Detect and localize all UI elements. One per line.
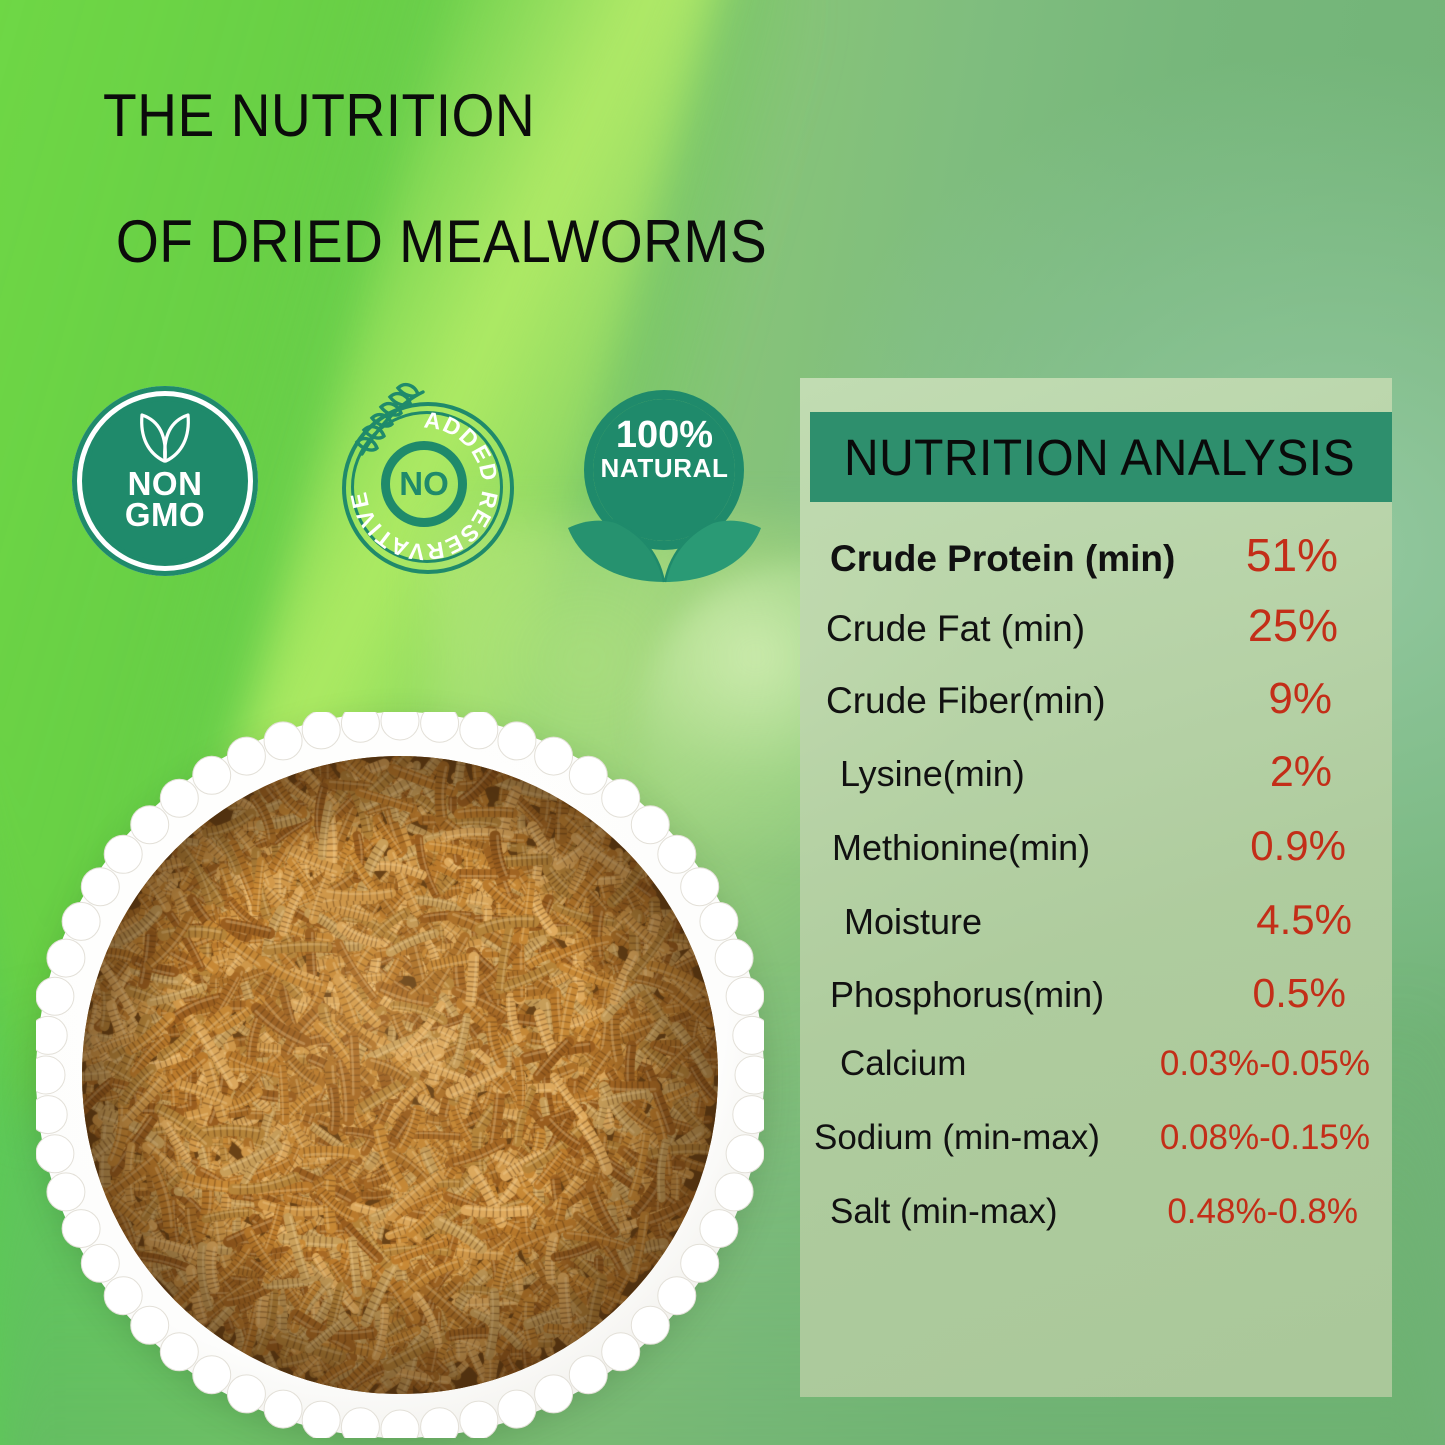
badge-no-added-preservatives: NO ADDED PRESERVATIVES: [324, 386, 524, 582]
nutrient-value: 2%: [1270, 748, 1380, 797]
nutrient-label: Moisture: [814, 901, 982, 943]
trust-badge-row: NON GMO: [72, 386, 772, 586]
badge-natural-percent: 100%: [562, 416, 767, 454]
badge-non-gmo: NON GMO: [72, 386, 258, 576]
table-row: Crude Protein (min) 51%: [814, 528, 1380, 600]
badge-preservatives-curved-text: ADDED PRESERVATIVES: [324, 386, 524, 582]
nutrient-label: Salt (min-max): [814, 1192, 1058, 1232]
table-row: Crude Fat (min) 25%: [814, 600, 1380, 674]
table-row: Crude Fiber(min) 9%: [814, 674, 1380, 748]
table-row: Moisture 4.5%: [814, 896, 1380, 970]
nutrient-value: 0.03%-0.05%: [1160, 1044, 1380, 1084]
nutrient-label: Crude Fat (min): [814, 608, 1085, 650]
nutrient-value: 0.9%: [1250, 822, 1380, 870]
table-row: Sodium (min-max) 0.08%-0.15%: [814, 1118, 1380, 1192]
nutrient-label: Crude Fiber(min): [814, 680, 1106, 722]
nutrition-table: Crude Protein (min) 51% Crude Fat (min) …: [814, 528, 1380, 1266]
page-title-line-1: THE NUTRITION: [103, 86, 931, 146]
table-row: Phosphorus(min) 0.5%: [814, 970, 1380, 1044]
nutrient-label: Calcium: [814, 1044, 966, 1084]
nutrition-panel: NUTRITION ANALYSIS Crude Protein (min) 5…: [800, 378, 1392, 1397]
two-leaves-icon: [126, 409, 204, 468]
page-title: THE NUTRITION OF DRIED MEALWORMS: [103, 86, 931, 272]
nutrient-label: Sodium (min-max): [814, 1118, 1100, 1158]
dried-mealworms-fill: [82, 756, 718, 1394]
nutrient-value: 4.5%: [1256, 896, 1380, 944]
two-leaves-icon: [562, 478, 767, 589]
product-photo-bowl-of-mealworms: [36, 712, 764, 1438]
nutrient-label: Crude Protein (min): [814, 538, 1175, 580]
page-title-line-2: OF DRIED MEALWORMS: [116, 212, 931, 272]
nutrition-panel-title: NUTRITION ANALYSIS: [844, 428, 1355, 487]
table-row: Methionine(min) 0.9%: [814, 822, 1380, 896]
badge-non-gmo-line-2: GMO: [72, 499, 258, 530]
nutrient-label: Lysine(min): [814, 753, 1025, 795]
nutrient-value: 9%: [1268, 674, 1380, 724]
nutrient-value: 51%: [1246, 528, 1380, 582]
nutrient-label: Phosphorus(min): [814, 974, 1104, 1016]
nutrient-value: 25%: [1248, 600, 1380, 652]
badge-100-natural: 100% NATURAL: [562, 386, 767, 584]
nutrition-panel-header: NUTRITION ANALYSIS: [810, 412, 1392, 502]
nutrient-value: 0.48%-0.8%: [1167, 1192, 1380, 1232]
table-row: Lysine(min) 2%: [814, 748, 1380, 822]
badge-non-gmo-line-1: NON: [72, 468, 258, 499]
nutrient-value: 0.5%: [1253, 970, 1380, 1017]
badge-non-gmo-label: NON GMO: [72, 468, 258, 530]
nutrient-label: Methionine(min): [814, 827, 1090, 869]
table-row: Calcium 0.03%-0.05%: [814, 1044, 1380, 1118]
badge-preservatives-arc-top-text: ADDED: [423, 407, 504, 485]
nutrient-value: 0.08%-0.15%: [1160, 1118, 1380, 1158]
infographic-page: THE NUTRITION OF DRIED MEALWORMS NON GMO: [0, 0, 1445, 1445]
badge-natural-label: 100% NATURAL: [562, 416, 767, 483]
table-row: Salt (min-max) 0.48%-0.8%: [814, 1192, 1380, 1266]
